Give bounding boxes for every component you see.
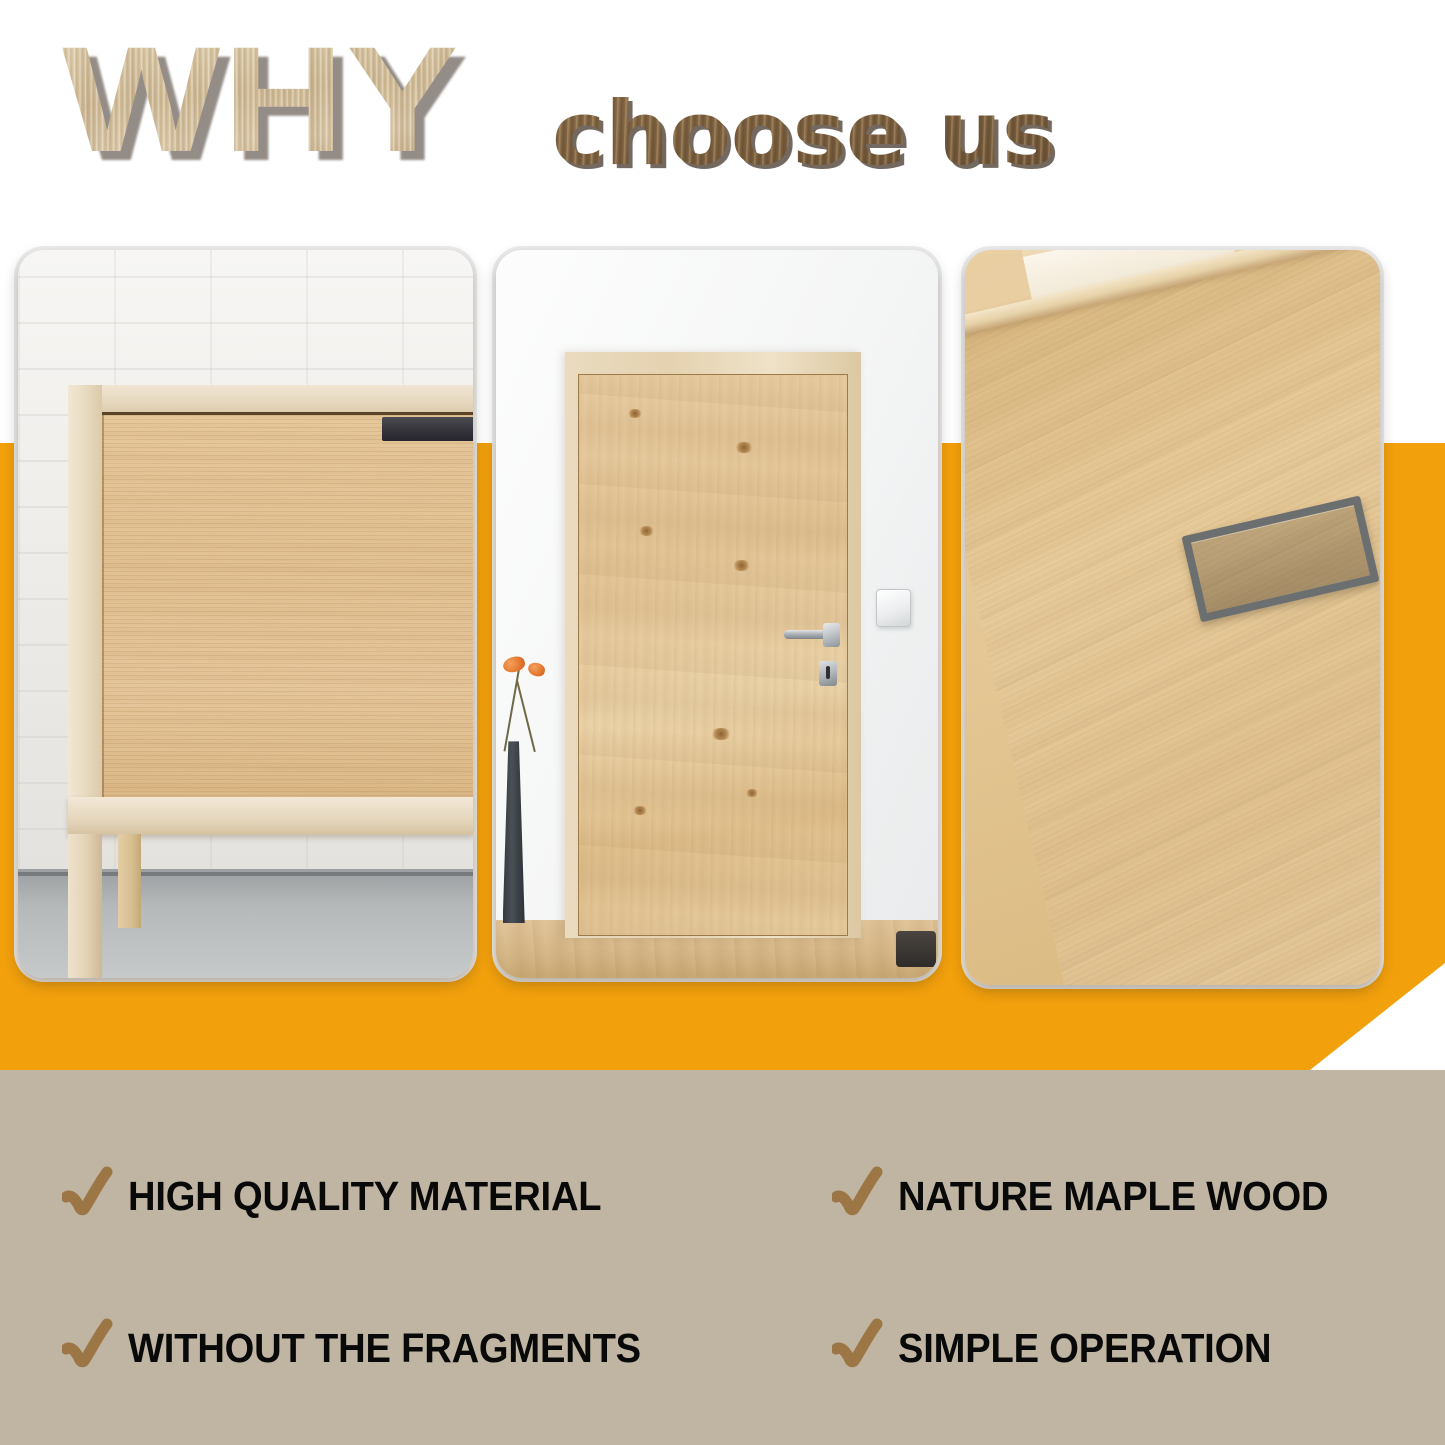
wood-knot [627, 409, 643, 418]
feature-item: NATURE MAPLE WOOD [832, 1166, 1361, 1226]
light-switch [876, 589, 911, 627]
check-icon [62, 1166, 114, 1226]
cabinet-drawer-front [102, 412, 473, 804]
wood-knot [638, 526, 655, 536]
feature-item: SIMPLE OPERATION [832, 1318, 1300, 1378]
door-lock-escutcheon [819, 661, 838, 686]
gallery-panel-door [496, 250, 938, 978]
feature-label: SIMPLE OPERATION [898, 1326, 1271, 1370]
check-icon [62, 1318, 114, 1378]
wood-knot [734, 442, 754, 453]
wood-knot [732, 560, 751, 571]
feature-label: NATURE MAPLE WOOD [898, 1174, 1328, 1218]
maple-cabinet-photo [18, 250, 473, 978]
feature-label: WITHOUT THE FRAGMENTS [128, 1326, 641, 1370]
page-title-secondary: choose us [552, 88, 1055, 180]
gallery-panel-cabinet [18, 250, 473, 978]
handle-rose-plate [823, 623, 840, 647]
keyhole-icon [826, 666, 831, 679]
wood-knot [710, 728, 732, 740]
why-choose-us-infographic: WHY choose us [0, 0, 1445, 1445]
check-icon [832, 1318, 884, 1378]
gallery-panel-drawer-closeup [965, 250, 1380, 985]
door-frame [565, 352, 861, 938]
drawer-handle-closeup-photo [965, 250, 1380, 985]
page-title-primary: WHY [62, 24, 461, 174]
cabinet-handle [382, 417, 473, 440]
cabinet-leg-inner [118, 834, 141, 929]
cabinet-bottom-rail [68, 797, 473, 835]
oak-door-photo [496, 250, 938, 978]
cabinet-leg-left [68, 834, 102, 978]
features-section: HIGH QUALITY MATERIAL NATURE MAPLE WOOD … [0, 1070, 1445, 1445]
wood-knot [632, 806, 648, 815]
wood-knot [745, 789, 759, 797]
door-mat [896, 931, 936, 967]
feature-label: HIGH QUALITY MATERIAL [128, 1174, 601, 1218]
feature-item: HIGH QUALITY MATERIAL [62, 1166, 637, 1226]
feature-item: WITHOUT THE FRAGMENTS [62, 1318, 680, 1378]
check-icon [832, 1166, 884, 1226]
header: WHY choose us [0, 0, 1445, 235]
oak-door-leaf [578, 374, 848, 936]
